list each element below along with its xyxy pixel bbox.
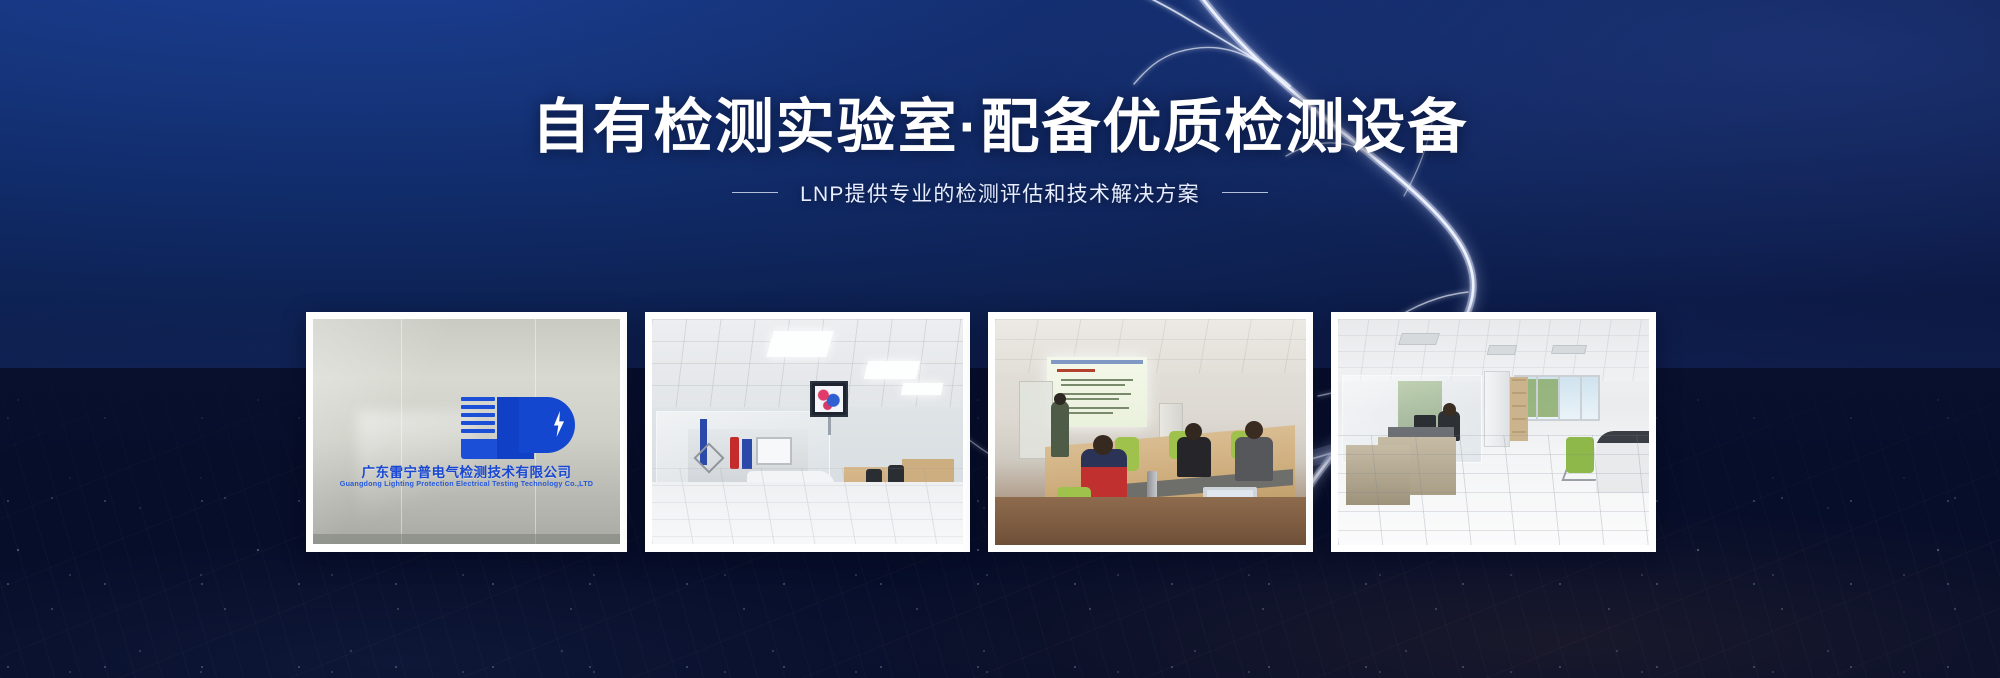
equipment-blue-part	[742, 439, 752, 469]
attendee-head	[1093, 435, 1113, 455]
monitor-mount	[828, 417, 831, 435]
slide-heading	[1057, 369, 1095, 372]
wall-monitor	[810, 381, 848, 417]
window-mullion	[1580, 377, 1582, 419]
company-name-en: Guangdong Lighting Protection Electrical…	[313, 479, 620, 488]
window-mullion	[1536, 377, 1538, 419]
slide-text-line	[1061, 379, 1133, 381]
ceiling-grid	[995, 319, 1306, 373]
window-mullion	[1558, 377, 1560, 419]
floor-tile-grid	[1338, 435, 1649, 545]
attendee-head	[1185, 423, 1202, 440]
ceiling-vent	[1398, 333, 1440, 345]
logo-p-bowl	[519, 397, 575, 453]
subtitle-rule-right	[1222, 192, 1268, 193]
logo-bars	[461, 397, 497, 437]
ceiling-light	[864, 361, 920, 379]
gallery-card-training-meeting-room[interactable]	[988, 312, 1313, 552]
slide-text-line	[1061, 398, 1119, 400]
gallery-card-testing-laboratory[interactable]	[645, 312, 970, 552]
hero-text-block: 自有检测实验室·配备优质检测设备 LNP提供专业的检测评估和技术解决方案	[0, 96, 2000, 208]
presenter-body	[1051, 401, 1069, 457]
presenter-head	[1054, 393, 1066, 405]
ceiling-vent	[1551, 345, 1587, 354]
console-monitor	[756, 437, 792, 465]
office-worker-head	[1443, 403, 1456, 416]
attendee-body	[1235, 437, 1273, 481]
gallery-card-office-area[interactable]	[1331, 312, 1656, 552]
ceiling-light	[901, 383, 944, 395]
attendee-head	[1245, 421, 1263, 439]
wood-floor	[995, 497, 1306, 545]
signage-wall: 广东雷宁普电气检测技术有限公司 Guangdong Lighting Prote…	[313, 319, 620, 544]
floor-tile-grid	[652, 468, 963, 544]
page-title: 自有检测实验室·配备优质检测设备	[0, 96, 2000, 160]
wall-base	[313, 534, 620, 544]
office-scene	[1338, 319, 1649, 545]
slide-title-bar	[1051, 360, 1143, 364]
attendee-body	[1177, 437, 1211, 477]
ceiling-light	[766, 331, 833, 357]
ceiling-vent	[1487, 345, 1517, 355]
photo-testing-laboratory	[652, 319, 963, 544]
equipment-red-part	[730, 437, 739, 469]
lnp-logo-icon	[461, 391, 591, 459]
water-bottle	[1147, 471, 1157, 499]
meeting-room-scene	[995, 319, 1306, 545]
laboratory-scene	[652, 319, 963, 544]
subtitle-rule-left	[732, 192, 778, 193]
photo-office-area	[1338, 319, 1649, 545]
company-name-cn: 广东雷宁普电气检测技术有限公司	[313, 461, 620, 481]
slide-text-line	[1061, 393, 1131, 395]
wooden-shelf	[1510, 377, 1528, 441]
photo-company-signage: 广东雷宁普电气检测技术有限公司 Guangdong Lighting Prote…	[313, 319, 620, 544]
slide-text-line	[1061, 407, 1129, 409]
gallery-card-company-signage[interactable]: 广东雷宁普电气检测技术有限公司 Guangdong Lighting Prote…	[306, 312, 627, 552]
photo-gallery: 广东雷宁普电气检测技术有限公司 Guangdong Lighting Prote…	[306, 312, 1656, 552]
photo-training-meeting-room	[995, 319, 1306, 545]
slide-text-line	[1061, 384, 1125, 386]
banner-hero: 自有检测实验室·配备优质检测设备 LNP提供专业的检测评估和技术解决方案	[0, 0, 2000, 678]
subtitle-row: LNP提供专业的检测评估和技术解决方案	[0, 178, 2000, 208]
page-subtitle: LNP提供专业的检测评估和技术解决方案	[800, 178, 1200, 208]
